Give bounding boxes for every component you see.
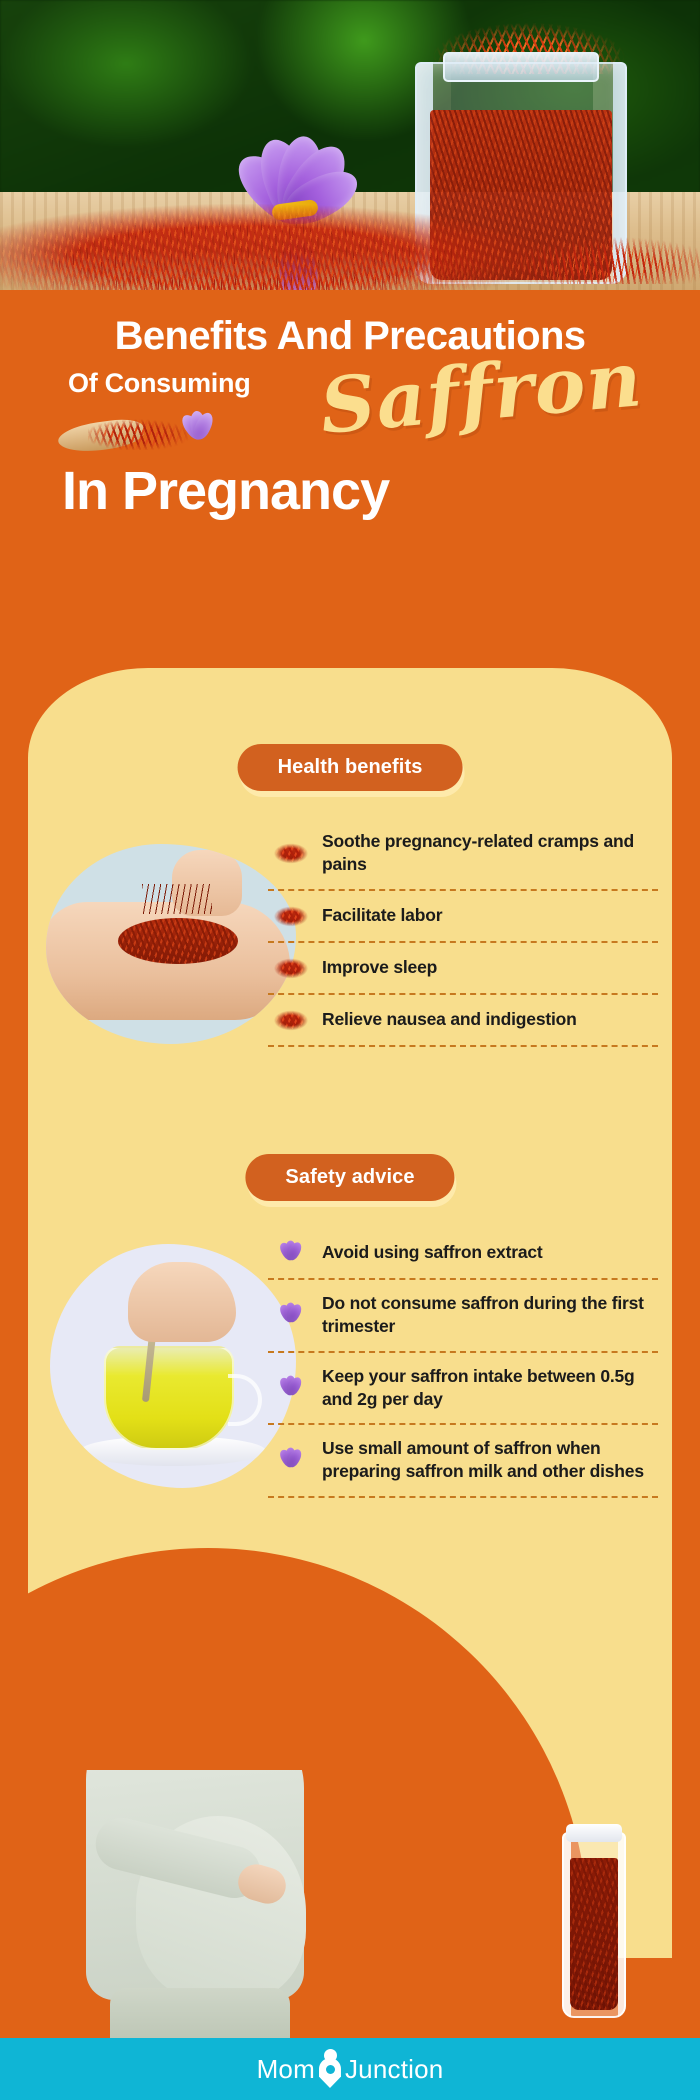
list-item: Improve sleep [268,943,658,995]
crocus-flower-icon [176,408,222,454]
saffron-vial-photo [562,1832,626,2018]
section-pill-safety-advice: Safety advice [245,1154,454,1201]
section-pill-health-benefits: Health benefits [238,744,463,791]
safety-advice-list: Avoid using saffron extract Do not consu… [268,1228,658,1498]
content-card: Health benefits Soothe pregnancy-related… [28,668,672,1958]
bottom-photo-zone [0,1770,700,2040]
pitcher-handle [228,1374,262,1426]
crocus-flower-icon [274,1302,308,1328]
vial-cap [566,1824,622,1842]
vial-saffron-contents [570,1858,618,2010]
list-item: Avoid using saffron extract [268,1228,658,1280]
saffron-drink-photo [50,1244,296,1488]
list-item-label: Avoid using saffron extract [322,1241,543,1264]
list-item-label: Use small amount of saffron when prepari… [322,1437,654,1484]
mom-and-baby-icon [317,2049,343,2089]
list-item: Keep your saffron intake between 0.5g an… [268,1353,658,1426]
stirring-hand [128,1262,236,1342]
list-item-label: Soothe pregnancy-related cramps and pain… [322,830,654,877]
list-item-label: Relieve nausea and indigestion [322,1008,577,1031]
crocus-flower-icon [274,1447,308,1473]
crocus-flower-icon [274,1240,308,1266]
list-item: Use small amount of saffron when prepari… [268,1425,658,1498]
saffron-sprig-decoration [58,402,228,466]
saffron-threads-icon [274,1007,308,1033]
momjunction-logo[interactable]: Mom Junction [257,2049,444,2089]
list-item: Facilitate labor [268,891,658,943]
saffron-threads-icon [274,840,308,866]
pregnant-woman-photo [70,1770,320,2040]
footer-bar: Mom Junction [0,2038,700,2100]
list-item-label: Keep your saffron intake between 0.5g an… [322,1365,654,1412]
list-item-label: Do not consume saffron during the first … [322,1292,654,1339]
list-item: Relieve nausea and indigestion [268,995,658,1047]
hero-photo [0,0,700,290]
scattered-saffron-right [500,236,700,284]
list-item: Soothe pregnancy-related cramps and pain… [268,818,658,891]
list-item-label: Improve sleep [322,956,437,979]
pinched-saffron-threads [142,884,212,914]
health-benefits-list: Soothe pregnancy-related cramps and pain… [268,818,658,1047]
glass-pitcher [104,1346,234,1450]
list-item-label: Facilitate labor [322,904,442,927]
title-block: Benefits And Precautions Of Consuming Sa… [0,290,700,670]
list-item: Do not consume saffron during the first … [268,1280,658,1353]
hand-with-saffron-photo [46,844,296,1044]
brand-text-mom: Mom [257,2054,315,2085]
brand-text-junction: Junction [345,2054,443,2085]
title-line-2: Of Consuming [68,368,250,399]
saffron-jar-neck [443,52,599,82]
crocus-flower-icon [274,1375,308,1401]
scattered-saffron-left [0,204,550,290]
title-line-3: In Pregnancy [62,460,389,522]
saffron-threads-icon [274,955,308,981]
infographic-page: Benefits And Precautions Of Consuming Sa… [0,0,700,2100]
saffron-threads-icon [274,903,308,929]
saffron-pile-photo [462,1980,574,2022]
pants [110,1988,290,2040]
saffron-pile-in-palm [118,918,238,964]
